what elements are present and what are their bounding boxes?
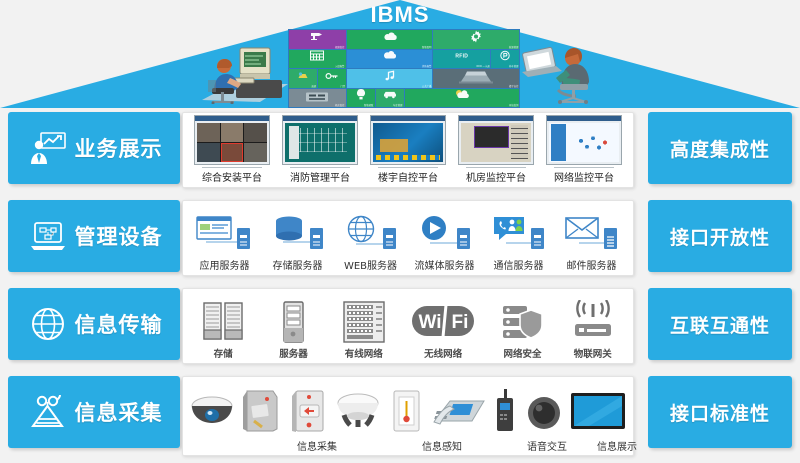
list-item[interactable]: WEB服务器 xyxy=(342,215,400,272)
tile-label: 公共广播 xyxy=(422,85,431,88)
sidebar-label: 信息采集 xyxy=(75,397,163,427)
server-list: 应用服务器 存储服务器 xyxy=(183,201,633,275)
person-with-laptop-on-chair-icon xyxy=(518,44,610,104)
tile-fire-alarm[interactable]: 消防报警 xyxy=(347,50,433,69)
device-caption-row: 信息采集 信息感知 语音交互 信息展示 xyxy=(189,438,627,452)
list-item-label: 服务器 xyxy=(279,346,308,360)
panel-information-collection: 信息采集 信息感知 语音交互 信息展示 xyxy=(182,376,634,456)
tile-building-automation[interactable]: 楼宇自控 xyxy=(433,69,519,88)
list-item[interactable]: 存储服务器 xyxy=(269,215,327,272)
feature-label: 接口开放性 xyxy=(670,223,770,250)
display-screen-icon xyxy=(569,389,627,433)
list-item[interactable]: Wi Fi 无线网络 xyxy=(410,300,476,360)
tile-garage-management[interactable]: 车库管理 xyxy=(376,89,404,108)
list-item-label: 存储 xyxy=(214,346,233,360)
tile-label: 智能照明 xyxy=(422,46,431,49)
tile-patrol[interactable]: 巡更 xyxy=(289,69,317,88)
tile-label: 巡更 xyxy=(311,85,316,88)
sidebar-item-information-collection[interactable]: 信息采集 xyxy=(8,376,180,448)
list-item[interactable]: 通信服务器 xyxy=(490,215,548,272)
list-item-label: 楼宇自控平台 xyxy=(378,167,438,184)
roof-tile-grid: 视频监控 智能照明 能源管理 入侵报警 xyxy=(288,29,520,108)
row-management-devices: 管理设备 应用服务器 xyxy=(0,196,800,282)
feature-label: 高度集成性 xyxy=(670,135,770,162)
patrol-icon xyxy=(297,71,308,83)
tile-intrusion-alarm[interactable]: 入侵报警 xyxy=(289,50,346,69)
caption-label: 信息感知 xyxy=(387,438,497,453)
svg-text:Fi: Fi xyxy=(452,312,469,333)
tile-smart-evacuation[interactable]: 智能疏散 xyxy=(347,89,375,108)
list-item-label: 应用服务器 xyxy=(200,257,250,272)
list-item-label: WEB服务器 xyxy=(344,257,397,272)
tile-label: 智能疏散 xyxy=(364,104,373,107)
tile-parking-management[interactable]: 停车管理 xyxy=(491,50,519,69)
ip-telephone-icon xyxy=(432,389,490,433)
cloud-icon xyxy=(382,32,397,44)
list-item[interactable]: 存储 xyxy=(199,300,247,360)
fire-control-screenshot xyxy=(282,115,358,165)
list-item-label: 有线网络 xyxy=(345,346,383,360)
feature-badge-open-interface[interactable]: 接口开放性 xyxy=(648,200,792,272)
sensor-array-icon xyxy=(30,395,66,429)
tile-label: 消防报警 xyxy=(422,65,431,68)
tile-label: 门禁 xyxy=(340,85,345,88)
row-information-collection: 信息采集 xyxy=(0,372,800,460)
svg-text:Wi: Wi xyxy=(419,312,442,333)
sidebar-item-management-devices[interactable]: 管理设备 xyxy=(8,200,180,272)
tile-label: 停车管理 xyxy=(509,65,518,68)
wireless-gateway-icon xyxy=(569,300,617,344)
list-item[interactable]: 机房监控平台 xyxy=(458,115,534,184)
sidebar-label: 管理设备 xyxy=(75,221,163,251)
list-item[interactable]: 综合安装平台 xyxy=(194,115,270,184)
cctv-camera-icon xyxy=(310,32,324,44)
datacenter-monitor-screenshot xyxy=(458,115,534,165)
wifi-icon: Wi Fi xyxy=(410,300,476,344)
emergency-light-icon xyxy=(356,89,366,103)
list-item-label: 邮件服务器 xyxy=(567,257,617,272)
droplet-icon xyxy=(384,51,396,64)
card-reader-icon xyxy=(238,389,284,433)
tile-smart-lighting[interactable]: 智能照明 xyxy=(347,30,433,49)
feature-badge-standard-interface[interactable]: 接口标准性 xyxy=(648,376,792,448)
row-information-transmission: 信息传输 存储 xyxy=(0,284,800,370)
list-item[interactable]: 应用服务器 xyxy=(196,215,254,272)
list-item[interactable]: 网络安全 xyxy=(498,300,546,360)
switch-rack-icon xyxy=(340,300,388,344)
gear-icon xyxy=(470,30,482,45)
tile-label: 入侵报警 xyxy=(335,65,344,68)
feature-badge-high-integration[interactable]: 高度集成性 xyxy=(648,112,792,184)
tile-label: 视频监控 xyxy=(335,46,344,49)
list-item-label: 综合安装平台 xyxy=(202,167,262,184)
emergency-button-icon xyxy=(286,389,332,433)
chat-people-server-icon xyxy=(490,215,548,255)
list-item-label: 流媒体服务器 xyxy=(415,257,475,272)
feature-badge-interconnection[interactable]: 互联互通性 xyxy=(648,288,792,360)
list-item-label: 网络安全 xyxy=(503,346,541,360)
list-item-label: 物联网关 xyxy=(574,346,612,360)
row-business-display: 业务展示 综合安装平台 消防管理平台 楼宇自控平台 机房监控平台 xyxy=(0,108,800,194)
list-item[interactable]: 流媒体服务器 xyxy=(415,215,475,272)
presentation-person-icon xyxy=(30,131,66,165)
network-device-list: 存储 服务器 xyxy=(183,289,633,363)
roof-section: IBMS 视频监控 智能照明 能源管理 xyxy=(0,0,800,108)
person-at-desktop-computer-icon xyxy=(196,44,292,104)
list-item[interactable]: 网络监控平台 xyxy=(546,115,622,184)
list-item-label: 机房监控平台 xyxy=(466,167,526,184)
application-window-server-icon xyxy=(196,215,254,255)
database-cylinder-server-icon xyxy=(269,215,327,255)
server-tower-icon xyxy=(269,300,317,344)
sensor-device-list: 信息采集 信息感知 语音交互 信息展示 xyxy=(183,377,633,455)
tile-rfid-card[interactable]: RFID RFID 一卡通 xyxy=(433,50,490,69)
building-automation-screenshot xyxy=(370,115,446,165)
caption-label: 语音交互 xyxy=(497,438,597,453)
key-icon xyxy=(325,71,338,82)
parking-icon xyxy=(500,51,510,64)
envelope-server-icon xyxy=(563,215,621,255)
tile-access-control[interactable]: 门禁 xyxy=(318,69,346,88)
tile-energy-management[interactable]: 能源管理 xyxy=(433,30,519,49)
tile-label: 能源管理 xyxy=(509,46,518,49)
speaker-icon xyxy=(521,389,567,433)
list-item-label: 无线网络 xyxy=(424,346,462,360)
weather-icon xyxy=(454,89,470,103)
music-note-icon xyxy=(384,70,395,84)
grid-panel-icon xyxy=(310,51,324,64)
ibms-architecture-diagram: IBMS 视频监控 智能照明 能源管理 xyxy=(0,0,800,463)
play-circle-server-icon xyxy=(416,215,474,255)
page-title: IBMS xyxy=(0,2,800,28)
caption-label: 信息采集 xyxy=(247,438,387,453)
sidebar-item-information-transmission[interactable]: 信息传输 xyxy=(8,288,180,360)
rfid-icon: RFID xyxy=(455,55,468,60)
tile-public-broadcast[interactable]: 公共广播 xyxy=(347,69,433,88)
list-item-label: 通信服务器 xyxy=(494,257,544,272)
panel-business-display: 综合安装平台 消防管理平台 楼宇自控平台 机房监控平台 网络监控平台 xyxy=(182,112,634,188)
list-item-label: 消防管理平台 xyxy=(290,167,350,184)
car-icon xyxy=(383,91,397,102)
list-item[interactable]: 有线网络 xyxy=(340,300,388,360)
list-item[interactable]: 邮件服务器 xyxy=(563,215,621,272)
list-item[interactable]: 物联网关 xyxy=(569,300,617,360)
list-item[interactable]: 服务器 xyxy=(269,300,317,360)
tile-label: 楼宇自控 xyxy=(509,85,518,88)
dome-camera-icon xyxy=(189,389,235,433)
panel-information-transmission: 存储 服务器 xyxy=(182,288,634,364)
tile-server-room-monitor[interactable]: 机房监控 xyxy=(289,89,346,108)
walkie-talkie-icon xyxy=(492,389,518,433)
storage-rack-icon xyxy=(199,300,247,344)
globe-icon xyxy=(30,307,66,341)
smoke-detector-icon xyxy=(335,389,381,433)
sidebar-item-business-display[interactable]: 业务展示 xyxy=(8,112,180,184)
tile-label: 机房监控 xyxy=(335,104,344,107)
tile-video-surveillance[interactable]: 视频监控 xyxy=(289,30,346,49)
temperature-panel-icon xyxy=(383,389,429,433)
server-room-icon xyxy=(305,89,329,106)
video-wall-screenshot xyxy=(194,115,270,165)
list-item-label: 网络监控平台 xyxy=(554,167,614,184)
laptop-network-icon xyxy=(30,219,66,253)
caption-label: 信息展示 xyxy=(597,438,637,453)
tile-label: 车库管理 xyxy=(393,104,402,107)
list-item[interactable]: 消防管理平台 xyxy=(282,115,358,184)
globe-grid-server-icon xyxy=(342,215,400,255)
server-shield-icon xyxy=(498,300,546,344)
business-platform-list: 综合安装平台 消防管理平台 楼宇自控平台 机房监控平台 网络监控平台 xyxy=(183,113,633,187)
list-item[interactable]: 楼宇自控平台 xyxy=(370,115,446,184)
building-icon xyxy=(459,69,493,88)
tile-label: RFID 一卡通 xyxy=(476,65,489,68)
device-icon-row xyxy=(189,381,627,433)
tile-label: 环境监测 xyxy=(509,104,518,107)
tile-environment-monitor[interactable]: 环境监测 xyxy=(405,89,520,108)
sidebar-label: 业务展示 xyxy=(75,133,163,163)
panel-management-devices: 应用服务器 存储服务器 xyxy=(182,200,634,276)
feature-label: 互联互通性 xyxy=(670,311,770,338)
feature-label: 接口标准性 xyxy=(670,399,770,426)
sidebar-label: 信息传输 xyxy=(75,309,163,339)
list-item-label: 存储服务器 xyxy=(273,257,323,272)
network-monitor-screenshot xyxy=(546,115,622,165)
